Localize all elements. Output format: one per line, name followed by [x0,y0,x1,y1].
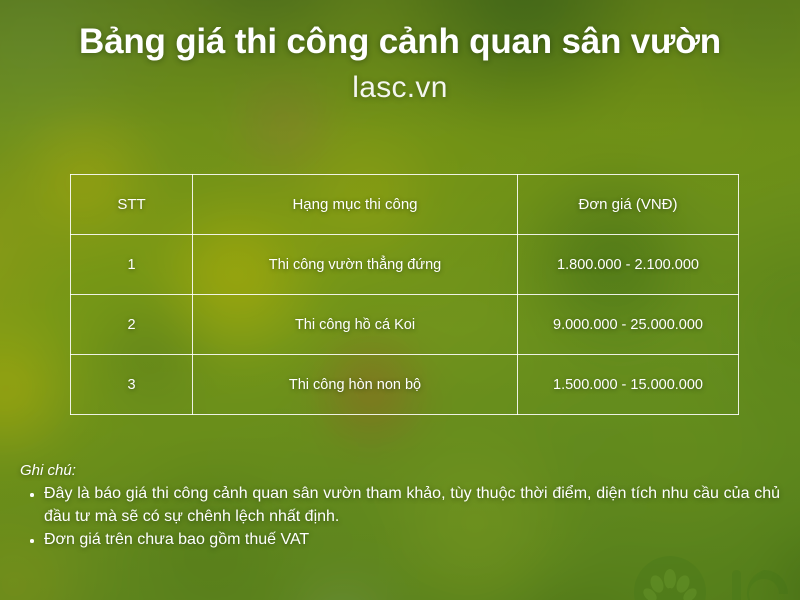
note-item: Đây là báo giá thi công cảnh quan sân vư… [20,483,780,528]
site-name: lasc.vn [0,62,800,105]
cell-price: 9.000.000 - 25.000.000 [518,295,739,355]
cell-item: Thi công vườn thẳng đứng [193,235,518,295]
notes-label: Ghi chú: [20,462,780,479]
cell-stt: 3 [71,355,193,415]
header: Bảng giá thi công cảnh quan sân vườn las… [0,0,800,105]
cell-item: Thi công hòn non bộ [193,355,518,415]
table-row: 1 Thi công vườn thẳng đứng 1.800.000 - 2… [71,235,739,295]
table-row: 2 Thi công hồ cá Koi 9.000.000 - 25.000.… [71,295,739,355]
cell-stt: 1 [71,235,193,295]
column-header-item: Hạng mục thi công [193,175,518,235]
cell-price: 1.500.000 - 15.000.000 [518,355,739,415]
price-table-graphic: Bảng giá thi công cảnh quan sân vườn las… [0,0,800,600]
table-row: 3 Thi công hòn non bộ 1.500.000 - 15.000… [71,355,739,415]
cell-item: Thi công hồ cá Koi [193,295,518,355]
note-item: Đơn giá trên chưa bao gồm thuế VAT [20,529,780,552]
page-title: Bảng giá thi công cảnh quan sân vườn [0,0,800,62]
notes-section: Ghi chú: Đây là báo giá thi công cảnh qu… [20,462,780,553]
notes-list: Đây là báo giá thi công cảnh quan sân vư… [20,483,780,552]
cell-stt: 2 [71,295,193,355]
column-header-stt: STT [71,175,193,235]
table-header-row: STT Hạng mục thi công Đơn giá (VNĐ) [71,175,739,235]
column-header-price: Đơn giá (VNĐ) [518,175,739,235]
price-table: STT Hạng mục thi công Đơn giá (VNĐ) 1 Th… [70,174,739,415]
cell-price: 1.800.000 - 2.100.000 [518,235,739,295]
